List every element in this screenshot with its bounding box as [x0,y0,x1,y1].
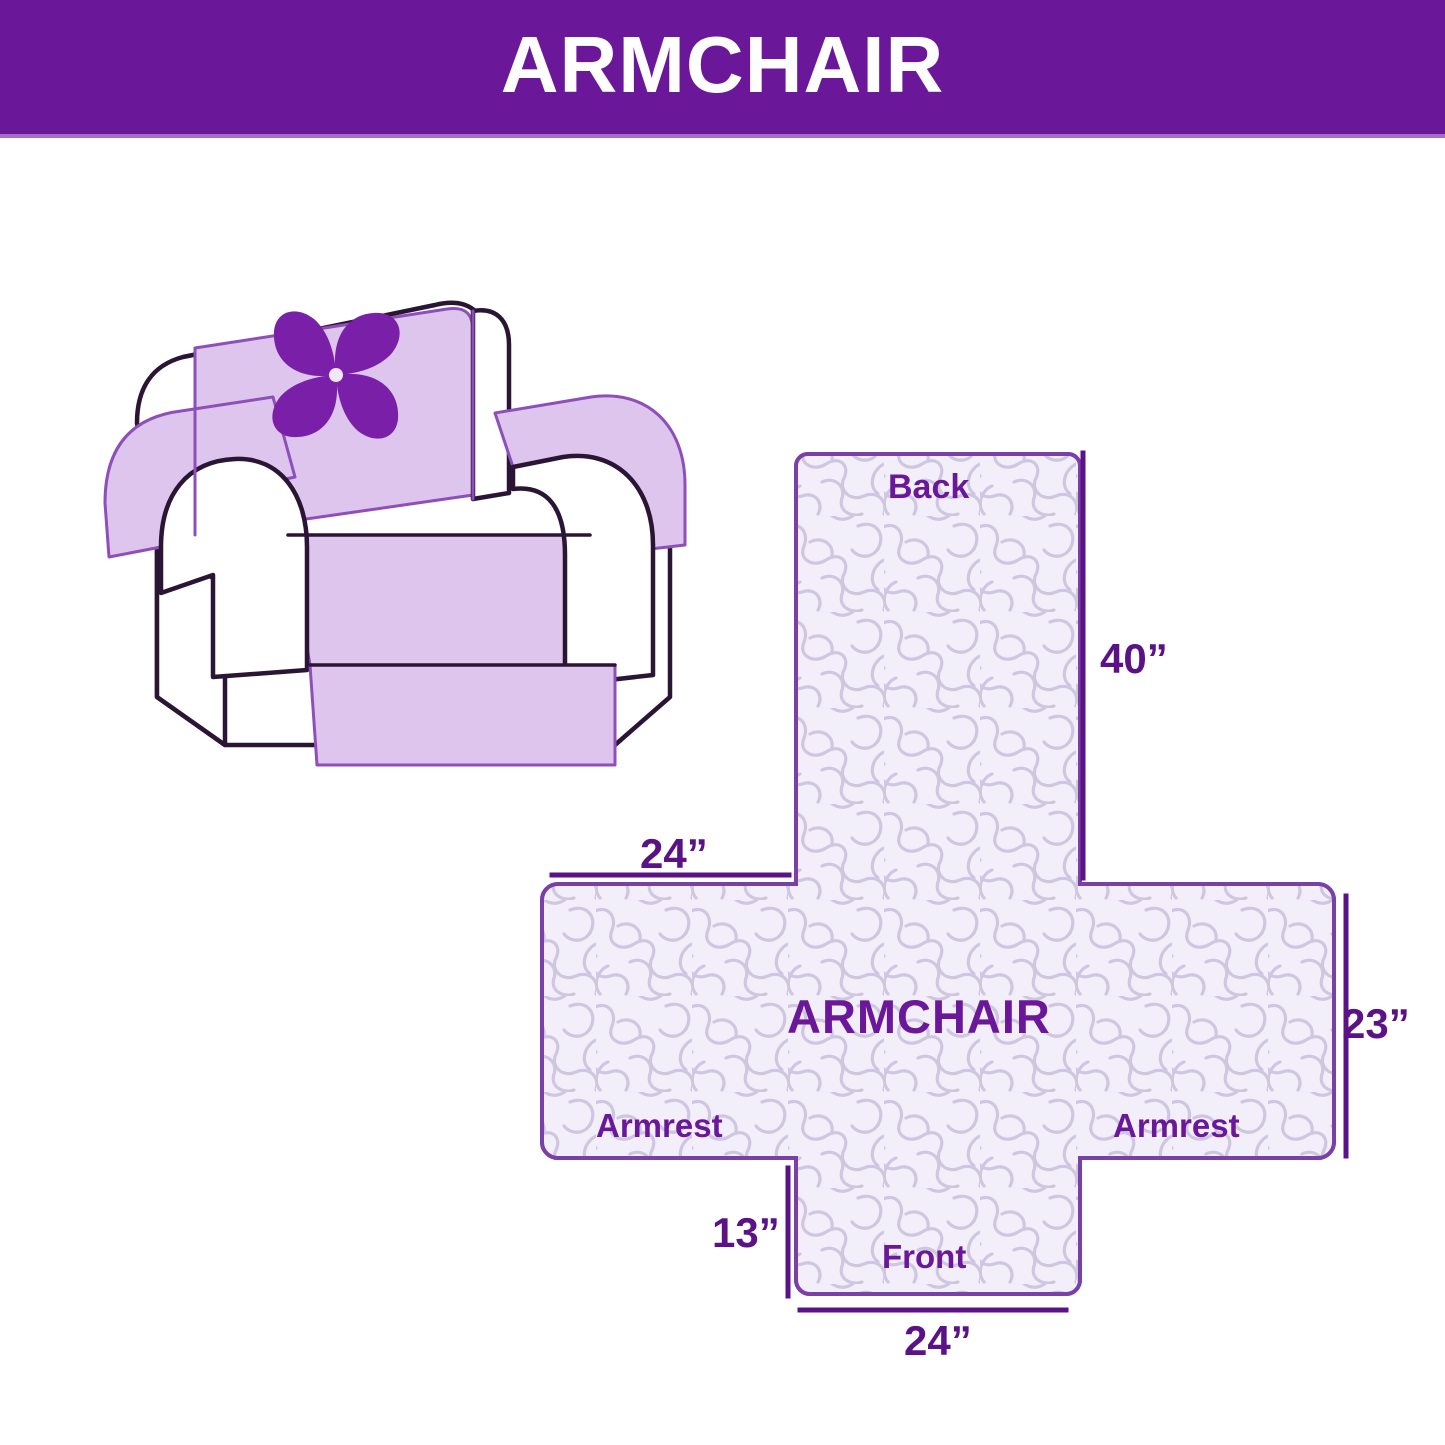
dimension-label-front-height: 13” [712,1212,780,1254]
panel-label-armrest-left: Armrest [596,1109,723,1142]
header-underline [0,134,1445,138]
page-title: ARMCHAIR [501,25,945,105]
dimension-label-front-width: 24” [904,1320,972,1362]
panel-label-front: Front [882,1240,966,1273]
dimension-label-center-height: 23” [1342,1003,1410,1045]
dimension-label-back-width: 24” [640,833,708,875]
cover-cross-shape [500,420,1430,1350]
cover-pattern-diagram [500,420,1430,1350]
panel-label-armrest-right: Armrest [1113,1109,1240,1142]
panel-label-back: Back [888,470,969,504]
product-size-chart: ARMCHAIR [0,0,1445,1445]
header-banner: ARMCHAIR [0,0,1445,134]
panel-label-center: ARMCHAIR [787,993,1051,1040]
cross-panel [500,420,1430,1350]
dimension-label-back-height: 40” [1100,638,1168,680]
